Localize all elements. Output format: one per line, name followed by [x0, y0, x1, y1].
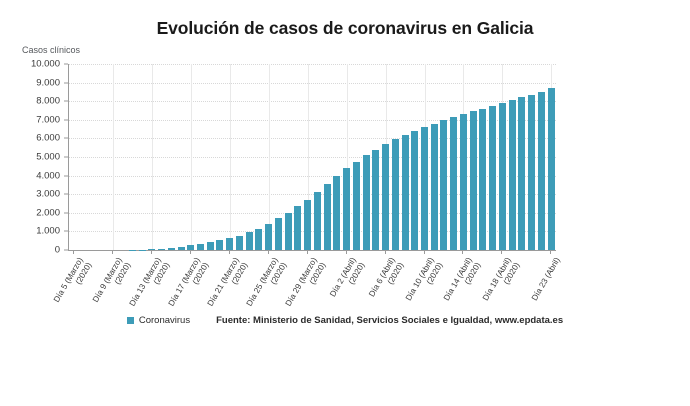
y-tick-label: 4.000: [36, 170, 60, 181]
x-tick-mark: [112, 250, 113, 254]
x-tick-mark: [462, 250, 463, 254]
bar[interactable]: [265, 224, 272, 250]
y-tick-label: 10.000: [31, 59, 60, 70]
y-tick-label: 1.000: [36, 226, 60, 237]
bar[interactable]: [304, 200, 311, 250]
bar[interactable]: [363, 155, 370, 250]
bar[interactable]: [460, 114, 467, 250]
y-tick-label: 7.000: [36, 114, 60, 125]
bar[interactable]: [216, 240, 223, 250]
bar[interactable]: [324, 184, 331, 250]
x-tick-mark: [73, 250, 74, 254]
bar[interactable]: [499, 103, 506, 250]
bar-series-coronavirus: [69, 64, 556, 250]
x-tick-mark: [550, 250, 551, 254]
bar[interactable]: [226, 238, 233, 250]
bar[interactable]: [402, 135, 409, 250]
bar[interactable]: [255, 229, 262, 250]
bar[interactable]: [343, 168, 350, 250]
x-tick-mark: [268, 250, 269, 254]
chart-title: Evolución de casos de coronavirus en Gal…: [0, 18, 690, 39]
y-tick-label: 8.000: [36, 96, 60, 107]
x-tick-mark: [385, 250, 386, 254]
bar[interactable]: [548, 88, 555, 250]
bar[interactable]: [314, 192, 321, 250]
legend[interactable]: Coronavirus: [127, 315, 190, 326]
y-axis-title: Casos clínicos: [22, 45, 80, 55]
bar[interactable]: [528, 95, 535, 250]
legend-swatch-icon: [127, 317, 134, 324]
bar[interactable]: [285, 213, 292, 250]
bar[interactable]: [489, 106, 496, 250]
bar[interactable]: [207, 242, 214, 250]
source-credit: Fuente: Ministerio de Sanidad, Servicios…: [216, 315, 563, 326]
bar[interactable]: [353, 162, 360, 250]
y-tick-label: 6.000: [36, 133, 60, 144]
x-tick-mark: [424, 250, 425, 254]
chart-container: Evolución de casos de coronavirus en Gal…: [0, 0, 690, 406]
chart-footer: Coronavirus Fuente: Ministerio de Sanida…: [0, 315, 690, 326]
bar[interactable]: [518, 97, 525, 250]
x-tick-label: Día 23 (Abril): [519, 256, 563, 322]
plot-area: [68, 64, 556, 251]
bar[interactable]: [382, 144, 389, 250]
bar[interactable]: [333, 176, 340, 250]
x-tick-mark: [307, 250, 308, 254]
y-tick-label: 9.000: [36, 77, 60, 88]
y-tick-label: 2.000: [36, 207, 60, 218]
bar[interactable]: [538, 92, 545, 250]
y-tick-label: 0: [55, 245, 60, 256]
x-tick-mark: [190, 250, 191, 254]
y-axis-ticks: 10.0009.0008.0007.0006.0005.0004.0003.00…: [0, 64, 68, 250]
x-axis-ticks: Día 5 (Marzo) (2020)Día 9 (Marzo) (2020)…: [68, 250, 555, 310]
bar[interactable]: [470, 111, 477, 250]
bar[interactable]: [479, 109, 486, 250]
bar[interactable]: [431, 124, 438, 250]
y-tick-label: 3.000: [36, 189, 60, 200]
bar[interactable]: [440, 120, 447, 250]
bar[interactable]: [294, 206, 301, 250]
bar[interactable]: [392, 139, 399, 250]
x-tick-mark: [501, 250, 502, 254]
bar[interactable]: [246, 232, 253, 250]
x-tick-mark: [346, 250, 347, 254]
x-tick-mark: [151, 250, 152, 254]
bar[interactable]: [450, 117, 457, 250]
bar[interactable]: [372, 150, 379, 250]
bar[interactable]: [509, 100, 516, 250]
legend-label: Coronavirus: [139, 315, 190, 326]
bar[interactable]: [236, 236, 243, 251]
y-tick-label: 5.000: [36, 152, 60, 163]
x-tick-mark: [229, 250, 230, 254]
bar[interactable]: [421, 127, 428, 250]
bar[interactable]: [411, 131, 418, 250]
bar[interactable]: [275, 218, 282, 250]
